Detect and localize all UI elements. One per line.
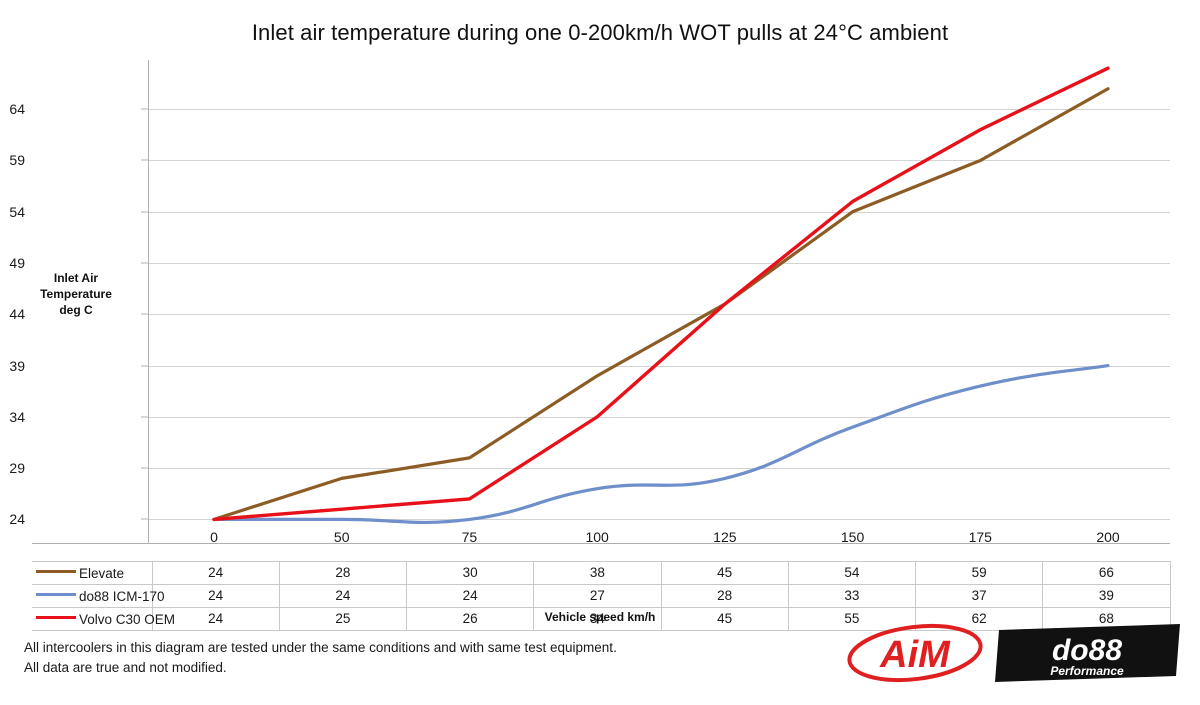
table-row: Elevate2428303845545966 — [32, 561, 1170, 584]
table-cell: 30 — [407, 561, 534, 584]
y-axis-title-line-3: deg C — [22, 302, 130, 318]
table-cell: 28 — [661, 584, 788, 607]
y-axis-title-line-2: Temperature — [22, 286, 130, 302]
table-cell: 25 — [279, 607, 406, 630]
table-cell: 27 — [534, 584, 661, 607]
aim-logo-icon: AiM — [845, 622, 985, 684]
legend-cell[interactable]: do88 ICM-170 — [32, 584, 152, 607]
table-header-row — [32, 543, 1170, 561]
table-cell: 45 — [661, 607, 788, 630]
y-tick-mark — [141, 416, 149, 417]
y-tick-label: 44 — [0, 306, 25, 322]
table-cell: 59 — [916, 561, 1043, 584]
table-header-cell — [1043, 543, 1170, 561]
aim-logo: AiM — [845, 622, 985, 684]
table-cell: 45 — [661, 561, 788, 584]
do88-logo-icon: do88 Performance — [995, 624, 1180, 682]
gridline — [148, 109, 1170, 110]
y-tick-label: 39 — [0, 358, 25, 374]
legend-cell[interactable]: Volvo C30 OEM — [32, 607, 152, 630]
footnote: All intercoolers in this diagram are tes… — [24, 638, 617, 677]
table-header-cell — [279, 543, 406, 561]
table-header-cell — [661, 543, 788, 561]
do88-logo-text: do88 — [1052, 634, 1122, 667]
legend-cell[interactable]: Elevate — [32, 561, 152, 584]
y-tick-mark — [141, 314, 149, 315]
table-header-cell — [407, 543, 534, 561]
table-cell: 24 — [152, 561, 279, 584]
table-cell: 37 — [916, 584, 1043, 607]
table-cell: 66 — [1043, 561, 1170, 584]
gridline — [148, 212, 1170, 213]
do88-logo: do88 Performance — [995, 624, 1180, 682]
footnote-line-2: All data are true and not modified. — [24, 658, 617, 678]
y-tick-label: 49 — [0, 255, 25, 271]
table-cell: 54 — [788, 561, 915, 584]
legend-color-swatch — [36, 593, 76, 596]
y-tick-label: 64 — [0, 101, 25, 117]
gridline — [148, 314, 1170, 315]
page-title: Inlet air temperature during one 0-200km… — [0, 20, 1200, 46]
table-cell: 39 — [1043, 584, 1170, 607]
y-axis-title: Inlet Air Temperature deg C — [22, 270, 130, 319]
y-tick-label: 29 — [0, 460, 25, 476]
table-row: do88 ICM-1702424242728333739 — [32, 584, 1170, 607]
table-cell: 24 — [152, 584, 279, 607]
gridline — [148, 366, 1170, 367]
do88-logo-subtext: Performance — [1050, 664, 1124, 678]
gridline — [148, 160, 1170, 161]
footnote-line-1: All intercoolers in this diagram are tes… — [24, 638, 617, 658]
y-tick-label: 24 — [0, 511, 25, 527]
table-cell: 28 — [279, 561, 406, 584]
gridline — [148, 468, 1170, 469]
gridline — [148, 519, 1170, 520]
table-header-corner — [32, 543, 152, 561]
table-cell: 26 — [407, 607, 534, 630]
table-cell: 24 — [279, 584, 406, 607]
table-cell: 33 — [788, 584, 915, 607]
gridline — [148, 263, 1170, 264]
aim-logo-text: AiM — [879, 634, 951, 676]
y-tick-mark — [141, 263, 149, 264]
legend-label: Elevate — [79, 565, 124, 580]
y-tick-mark — [141, 109, 149, 110]
legend-color-swatch — [36, 570, 76, 573]
table-header-cell — [534, 543, 661, 561]
y-tick-mark — [141, 211, 149, 212]
table-cell: 38 — [534, 561, 661, 584]
table-cell: 34 — [534, 607, 661, 630]
plot-area — [148, 60, 1170, 543]
y-tick-label: 34 — [0, 409, 25, 425]
legend-color-swatch — [36, 616, 76, 619]
table-header-cell — [152, 543, 279, 561]
legend-label: Volvo C30 OEM — [79, 611, 175, 626]
table-header-cell — [788, 543, 915, 561]
legend-label: do88 ICM-170 — [79, 588, 165, 603]
table-header-cell — [916, 543, 1043, 561]
data-table: Elevate2428303845545966do88 ICM-17024242… — [32, 543, 1171, 631]
y-tick-mark — [141, 519, 149, 520]
y-tick-mark — [141, 160, 149, 161]
y-tick-label: 54 — [0, 204, 25, 220]
y-tick-mark — [141, 365, 149, 366]
table-cell: 24 — [407, 584, 534, 607]
y-axis-title-line-1: Inlet Air — [22, 270, 130, 286]
gridline — [148, 417, 1170, 418]
y-tick-label: 59 — [0, 152, 25, 168]
y-axis-line — [148, 60, 149, 544]
y-tick-mark — [141, 468, 149, 469]
